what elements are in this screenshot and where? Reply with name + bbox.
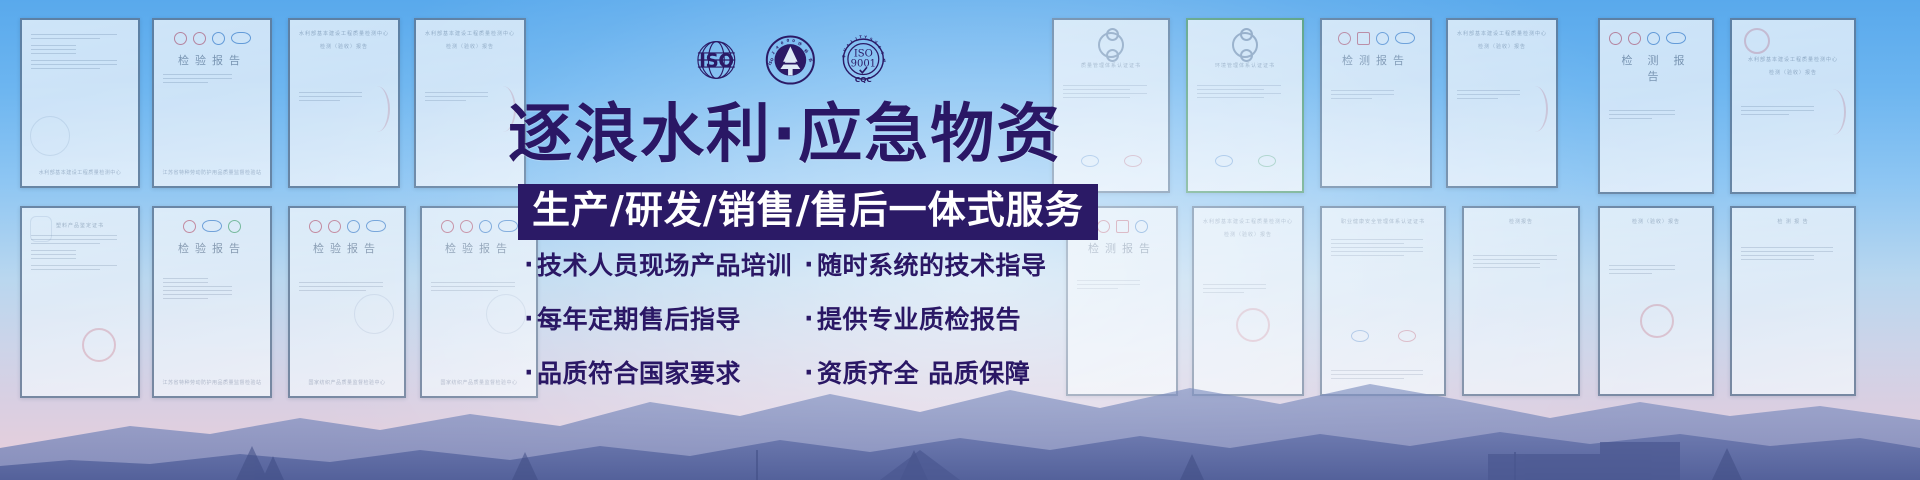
iso-globe-label: ISO [699,51,733,72]
certificate-title: 检测报告 [1473,218,1569,225]
certificate-card: 塑料产品鉴定证书 [20,206,140,398]
svg-text:Q: Q [842,54,847,58]
iso9001-label-number: 9001 [851,58,876,69]
certificate-footer: 国家纺织产品质量监督检验中心 [422,379,536,386]
certificate-card: 水利部基本建设工程质量检测中心 检测（验收）报告 [1446,18,1558,188]
certificate-footer: 检测（验收）报告 [1457,43,1547,50]
bullet-icon: · [804,360,814,385]
certificate-footer: 国家纺织产品质量监督检验中心 [290,379,404,386]
certificate-footer: 检测（验收）报告 [1203,231,1293,238]
certificate-card: 检测报告 [1320,18,1432,188]
iso-globe-badge: ISO [690,35,743,85]
svg-text:0: 0 [780,40,784,46]
certificate-title: 质量管理体系认证证书 [1063,62,1159,69]
certificate-card: 水利部基本建设工程质量检测中心 检测（验收）报告 [1730,18,1856,194]
certificate-title: 检验报告 [163,52,261,68]
certificate-title: 水利部基本建设工程质量检测中心 [425,30,515,37]
list-item: · 随时系统的技术指导 [804,246,1064,282]
bullet-icon: · [524,252,534,277]
certificate-footer: 江苏省特种劳动防护用品质量监督检验站 [154,169,270,176]
certificate-title: 水利部基本建设工程质量检测中心 [1203,218,1293,225]
feature-list: · 技术人员现场产品培训 · 随时系统的技术指导 · 每年定期售后指导 · 提供… [524,246,1084,390]
promo-banner: 水利部基本建设工程质量检测中心 检验报告 江苏省特种劳动防护用品质量监督检验站 … [0,0,1920,480]
certificate-title: 水利部基本建设工程质量检测中心 [299,30,389,37]
bullet-icon: · [804,306,814,331]
certificate-card: 检测报告 [1462,206,1580,396]
feature-label: 提供专业质检报告 [817,300,1021,336]
svg-text:Y: Y [864,35,868,39]
service-tagline-bar: 生产/研发/销售/售后一体式服务 [518,184,1098,240]
certificate-footer: 江苏省特种劳动防护用品质量监督检验站 [154,379,270,386]
feature-label: 品质符合国家要求 [537,354,741,390]
iso14000-environment-badge: ISO 1 4 0 0 0 环 标 志 [765,34,816,86]
certificate-card: 检测（验收）报告 [1598,206,1714,396]
page-title: 逐浪水利·应急物资 [508,102,1062,170]
svg-text:0: 0 [792,38,796,43]
certificate-card: 水利部基本建设工程质量检测中心 检测（验收）报告 [1192,206,1304,396]
bullet-icon: · [524,360,534,385]
certification-badges: ISO ISO 1 4 0 0 0 环 标 志 ISO [690,32,890,88]
svg-text:0: 0 [786,38,790,43]
certificate-card: 检 测 报 告 [1730,206,1856,396]
certificate-footer: 水利部基本建设工程质量检测中心 [22,169,138,176]
certificate-card: 职业健康安全管理体系认证证书 [1320,206,1446,396]
certificate-card: 水利部基本建设工程质量检测中心 [20,18,140,188]
certificate-card: 水利部基本建设工程质量检测中心 检测（验收）报告 [288,18,400,188]
certificate-card: 环境管理体系认证证书 [1186,18,1304,193]
feature-label: 随时系统的技术指导 [817,246,1047,282]
certificate-title: 水利部基本建设工程质量检测中心 [1457,30,1547,37]
certificate-footer: 检测（验收）报告 [299,43,389,50]
list-item: · 每年定期售后指导 [524,300,804,336]
feature-label: 技术人员现场产品培训 [537,246,792,282]
certificate-card: 检验报告 国家纺织产品质量监督检验中心 [288,206,406,398]
svg-text:ISO: ISO [767,56,775,66]
svg-text:T: T [860,35,864,39]
cqc-label: CQC [855,75,872,84]
svg-text:1: 1 [770,50,776,56]
iso9001-cqc-badge: ISO 9001 CQC Q U A L I T Y S Y S T M [837,34,890,86]
certificate-footer: 检测（验收）报告 [425,43,515,50]
certificate-card: 检验报告 江苏省特种劳动防护用品质量监督检验站 [152,206,272,398]
bullet-icon: · [804,252,814,277]
list-item: · 提供专业质检报告 [804,300,1064,336]
certificate-title: 检验报告 [299,240,395,256]
svg-text:M: M [882,58,887,63]
bullet-icon: · [524,306,534,331]
certificate-title: 检验报告 [431,240,527,256]
list-item: · 资质齐全 品质保障 [804,354,1064,390]
list-item: · 品质符合国家要求 [524,354,804,390]
certificate-title: 检测报告 [1077,240,1167,256]
certificate-title: 塑料产品鉴定证书 [31,222,129,229]
certificate-title: 检验报告 [163,240,261,256]
certificate-card: 质量管理体系认证证书 [1052,18,1170,193]
certificate-wall: 水利部基本建设工程质量检测中心 检验报告 江苏省特种劳动防护用品质量监督检验站 … [0,0,1920,480]
svg-text:环: 环 [797,41,802,47]
certificate-title: 职业健康安全管理体系认证证书 [1331,218,1435,225]
feature-label: 每年定期售后指导 [537,300,741,336]
list-item: · 技术人员现场产品培训 [524,246,804,282]
feature-label: 资质齐全 品质保障 [817,354,1030,390]
certificate-title: 检测报告 [1331,52,1421,68]
certificate-card: 检 测 报 告 [1598,18,1714,194]
certificate-card: 检验报告 江苏省特种劳动防护用品质量监督检验站 [152,18,272,188]
certificate-title: 环境管理体系认证证书 [1197,62,1293,69]
